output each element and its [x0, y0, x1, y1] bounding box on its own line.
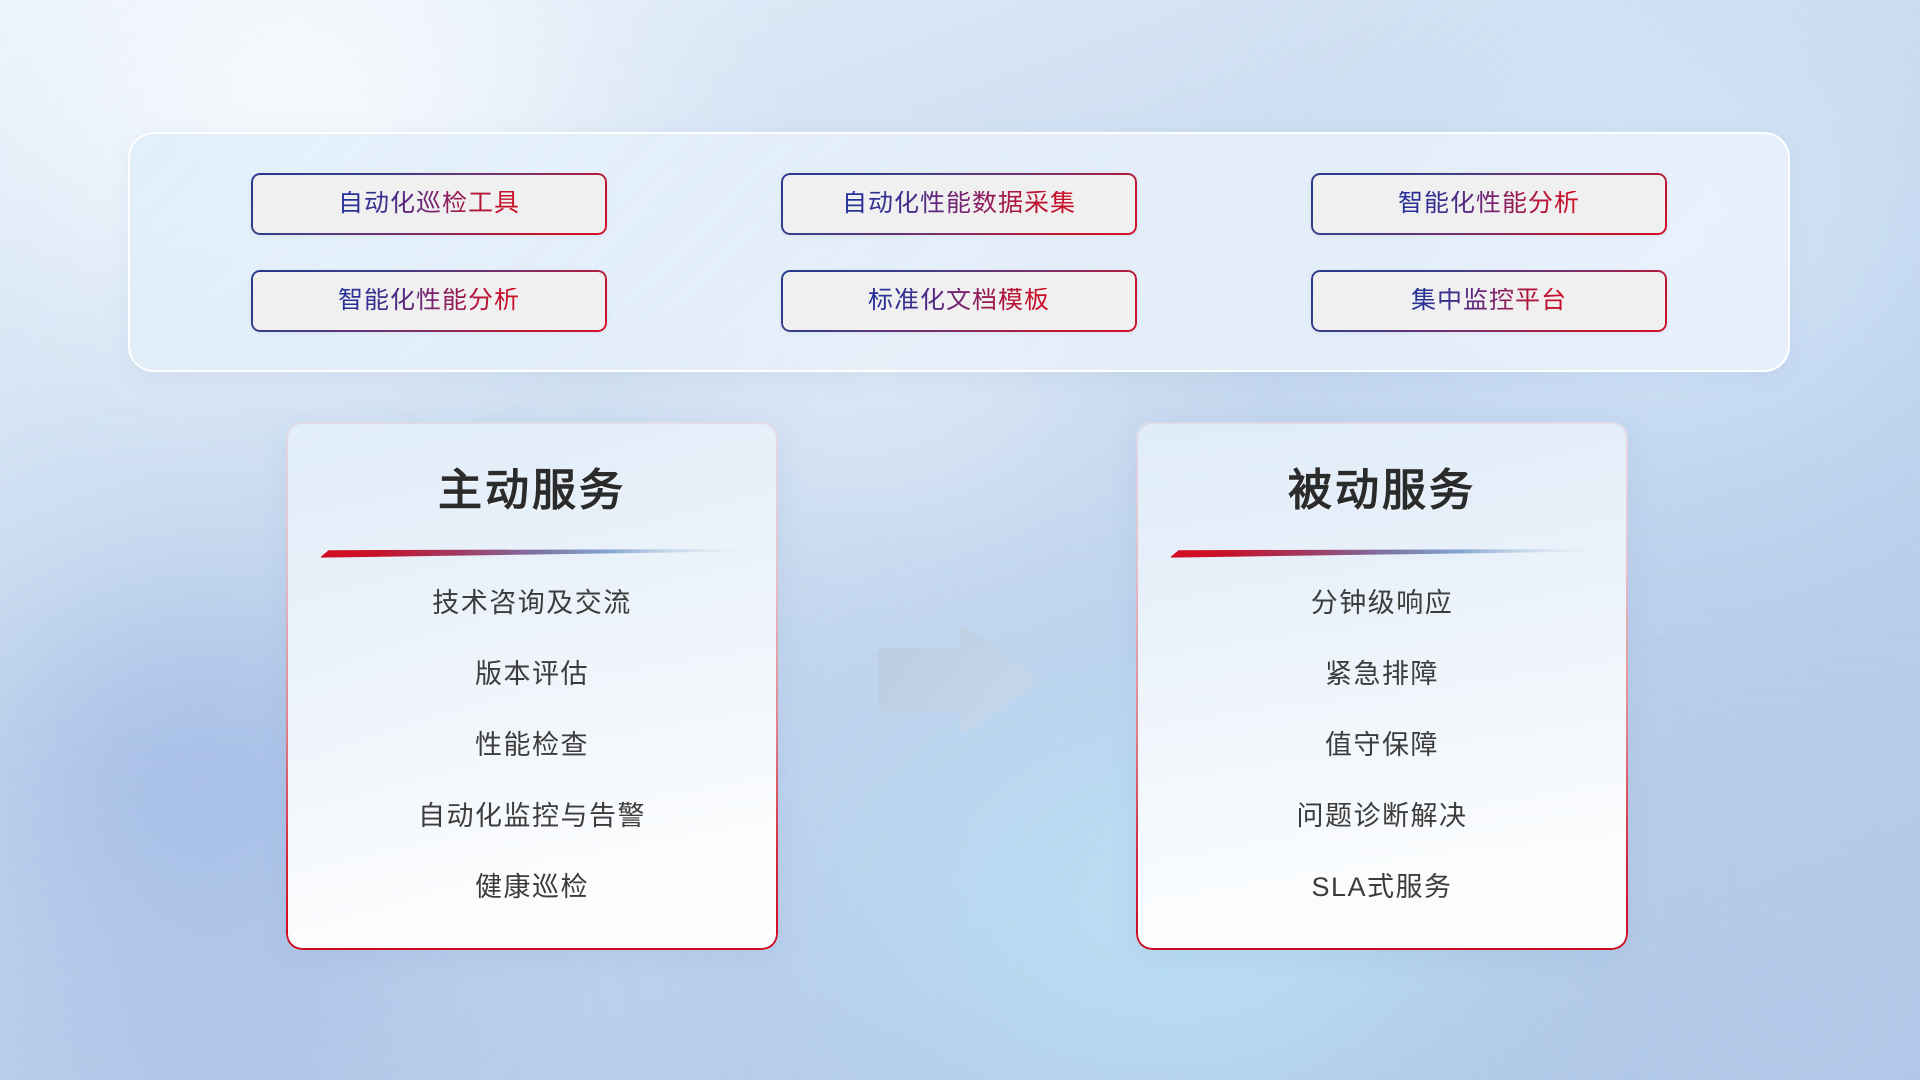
capability-pill-1[interactable]: 自动化巡检工具 [251, 173, 607, 235]
capability-pill-6[interactable]: 集中监控平台 [1311, 270, 1667, 332]
capability-pill-label: 智能化性能分析 [1398, 191, 1580, 216]
list-item: 技术咨询及交流 [286, 590, 778, 617]
service-card-proactive: 主动服务 技术咨询及交流 版本评估 性能检查 自动化监控与告警 健康巡检 [286, 422, 778, 950]
slide-canvas: 自动化巡检工具 自动化性能数据采集 智能化性能分析 智能化性能分析 标准化文档模… [0, 0, 1920, 1080]
list-item: SLA式服务 [1136, 874, 1628, 901]
list-item: 值守保障 [1136, 732, 1628, 759]
list-item: 版本评估 [286, 661, 778, 688]
capability-pill-label: 自动化巡检工具 [338, 191, 520, 216]
list-item: 性能检查 [286, 732, 778, 759]
list-item: 分钟级响应 [1136, 590, 1628, 617]
list-item: 自动化监控与告警 [286, 803, 778, 830]
capability-pill-2[interactable]: 自动化性能数据采集 [781, 173, 1137, 235]
capability-pill-label: 集中监控平台 [1411, 288, 1567, 313]
capability-pill-label: 标准化文档模板 [868, 288, 1050, 313]
card-list-proactive: 技术咨询及交流 版本评估 性能检查 自动化监控与告警 健康巡检 [286, 560, 778, 901]
arrow-right-icon [872, 620, 1040, 740]
card-title-reactive: 被动服务 [1136, 422, 1628, 518]
capability-panel: 自动化巡检工具 自动化性能数据采集 智能化性能分析 智能化性能分析 标准化文档模… [128, 132, 1790, 372]
list-item: 健康巡检 [286, 874, 778, 901]
title-divider-reactive [1165, 544, 1599, 560]
capability-pill-3[interactable]: 智能化性能分析 [1311, 173, 1667, 235]
card-title-proactive: 主动服务 [286, 422, 778, 518]
card-list-reactive: 分钟级响应 紧急排障 值守保障 问题诊断解决 SLA式服务 [1136, 560, 1628, 901]
capability-pill-label: 智能化性能分析 [338, 288, 520, 313]
title-divider-proactive [315, 544, 749, 560]
capability-pill-label: 自动化性能数据采集 [842, 191, 1076, 216]
list-item: 紧急排障 [1136, 661, 1628, 688]
capability-pill-4[interactable]: 智能化性能分析 [251, 270, 607, 332]
capability-pill-5[interactable]: 标准化文档模板 [781, 270, 1137, 332]
list-item: 问题诊断解决 [1136, 803, 1628, 830]
service-card-reactive: 被动服务 分钟级响应 紧急排障 值守保障 问题诊断解决 SLA式服务 [1136, 422, 1628, 950]
